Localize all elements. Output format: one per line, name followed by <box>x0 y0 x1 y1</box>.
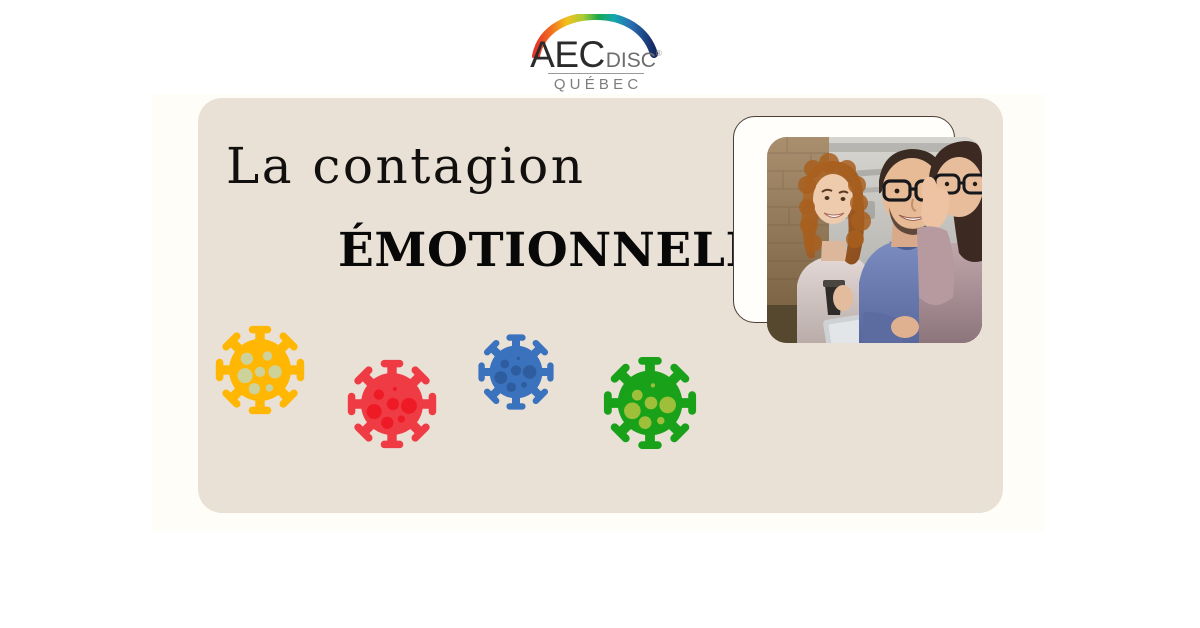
logo-disc-text: DISC <box>606 50 656 71</box>
headline-line-1: La contagion <box>226 141 585 191</box>
headline-line-2: ÉMOTIONNELLE <box>338 227 796 274</box>
virus-yellow <box>213 323 307 417</box>
logo-aec-text: AEC <box>530 36 605 73</box>
registered-mark: ® <box>656 49 662 58</box>
team-photo <box>767 137 982 343</box>
logo-wordmark: AEC DISC ® <box>516 36 676 74</box>
virus-red <box>345 357 439 451</box>
virus-blue <box>476 332 556 412</box>
poster-canvas: AEC DISC ® QUÉBEC La contagion ÉMOTIONNE… <box>0 0 1200 628</box>
aecdisc-logo: AEC DISC ® QUÉBEC <box>516 10 676 92</box>
logo-region-text: QUÉBEC <box>516 76 676 93</box>
logo-divider <box>548 73 644 74</box>
virus-green <box>601 354 699 452</box>
